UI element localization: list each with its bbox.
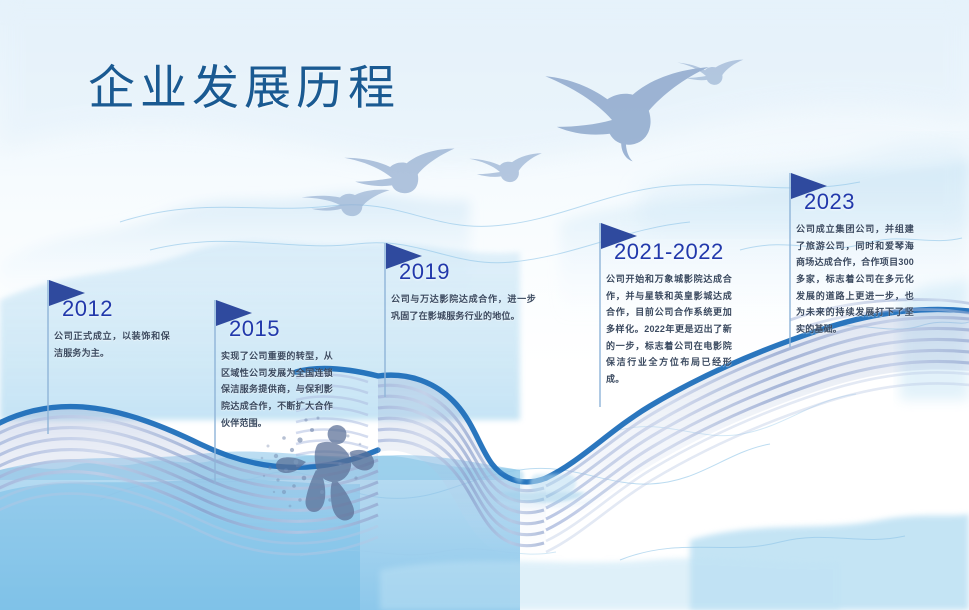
milestone-description: 公司开始和万象城影院达成合作，并与星轶和英皇影城达成合作，目前公司合作系统更加多…	[606, 271, 732, 387]
page-title: 企业发展历程	[88, 62, 400, 114]
milestone-year: 2019	[399, 259, 450, 285]
milestone-year: 2012	[62, 296, 113, 322]
milestone-2015[interactable]: 2015 实现了公司重要的转型，从区域性公司发展为全国连锁保洁服务提供商，与保利…	[207, 296, 337, 486]
milestone-description: 实现了公司重要的转型，从区域性公司发展为全国连锁保洁服务提供商，与保利影院达成合…	[221, 348, 333, 431]
milestone-year: 2015	[229, 316, 280, 342]
milestone-description: 公司成立集团公司，并组建了旅游公司，同时和爱琴海商场达成合作，合作项目300多家…	[796, 221, 914, 337]
milestone-description: 公司正式成立，以装饰和保洁服务为主。	[54, 328, 170, 361]
milestone-description: 公司与万达影院达成合作，进一步巩固了在影城服务行业的地位。	[391, 291, 536, 324]
milestone-2021-2022[interactable]: 2021-2022 公司开始和万象城影院达成合作，并与星轶和英皇影城达成合作，目…	[592, 219, 742, 409]
milestone-year: 2021-2022	[614, 239, 724, 265]
milestone-2012[interactable]: 2012 公司正式成立，以装饰和保洁服务为主。	[40, 276, 170, 436]
milestone-2023[interactable]: 2023 公司成立集团公司，并组建了旅游公司，同时和爱琴海商场达成合作，合作项目…	[782, 169, 922, 349]
timeline-poster: 企业发展历程 2012 公司正式成立，以装饰和保洁服务为主。 2015 实现了公…	[0, 0, 969, 610]
fishing-boat-silhouette	[498, 470, 592, 506]
milestone-year: 2023	[804, 189, 855, 215]
milestone-2019[interactable]: 2019 公司与万达影院达成合作，进一步巩固了在影城服务行业的地位。	[377, 239, 537, 399]
